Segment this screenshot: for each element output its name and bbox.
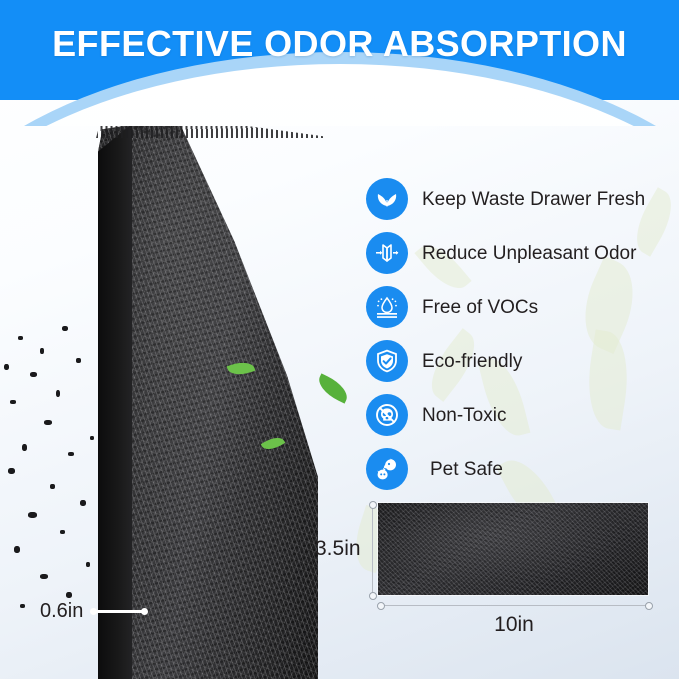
carbon-granule: [76, 358, 81, 363]
height-label: 3.5in: [315, 537, 361, 561]
carbon-granule: [90, 436, 94, 440]
filter-pad-edge: [98, 118, 132, 679]
carbon-granule: [28, 512, 37, 518]
airflow-filter-icon: [366, 232, 408, 274]
thickness-measure-line: [93, 610, 145, 613]
page-title: EFFECTIVE ODOR ABSORPTION: [0, 24, 679, 64]
carbon-granule: [56, 390, 60, 397]
carbon-granule: [50, 484, 55, 489]
carbon-granule: [60, 530, 65, 534]
filter-pad-flat-texture: [378, 503, 648, 595]
carbon-granule: [30, 372, 37, 377]
measure-endpoint: [377, 602, 385, 610]
measure-endpoint: [369, 501, 377, 509]
dog-cat-icon: [366, 448, 408, 490]
thickness-label: 0.6in: [40, 600, 83, 623]
product-infographic: EFFECTIVE ODOR ABSORPTION Keep Waste Dra…: [0, 0, 679, 679]
carbon-granule: [66, 592, 72, 598]
leaves-icon: [366, 178, 408, 220]
carbon-granule: [86, 562, 90, 567]
product-photo: [0, 100, 345, 679]
filter-pad-flat-view: [378, 503, 648, 595]
carbon-granule: [40, 574, 48, 579]
measure-endpoint: [645, 602, 653, 610]
water-droplet-icon: [366, 286, 408, 328]
feature-label: Reduce Unpleasant Odor: [422, 244, 636, 263]
carbon-granule: [8, 468, 15, 474]
feature-item-free-of-vocs: Free of VOCs: [366, 280, 676, 334]
feature-label: Pet Safe: [430, 460, 503, 479]
shield-check-icon: [366, 340, 408, 382]
carbon-granule: [68, 452, 74, 456]
carbon-granule: [62, 326, 68, 331]
carbon-granule: [40, 348, 44, 354]
height-measure-line: [372, 505, 373, 595]
carbon-granule: [4, 364, 9, 370]
carbon-granule: [44, 420, 52, 425]
carbon-granule: [80, 500, 86, 506]
feature-item-reduce-unpleasant-odor: Reduce Unpleasant Odor: [366, 226, 676, 280]
thickness-callout: 0.6in: [40, 600, 145, 623]
measure-endpoint: [369, 592, 377, 600]
carbon-granule: [18, 336, 23, 340]
width-label: 10in: [380, 613, 648, 637]
feature-item-keep-waste-drawer-fresh: Keep Waste Drawer Fresh: [366, 172, 676, 226]
no-skull-icon: [366, 394, 408, 436]
feature-item-eco-friendly: Eco-friendly: [366, 334, 676, 388]
feature-item-non-toxic: Non-Toxic: [366, 388, 676, 442]
feature-label: Free of VOCs: [422, 298, 538, 317]
header-banner: EFFECTIVE ODOR ABSORPTION: [0, 0, 679, 126]
carbon-granule: [10, 400, 16, 404]
carbon-granule: [14, 546, 20, 553]
dimension-diagram: 3.5in 10in: [310, 495, 660, 655]
feature-item-pet-safe: Pet Safe: [366, 442, 676, 496]
carbon-granule: [20, 604, 25, 608]
feature-label: Eco-friendly: [422, 352, 522, 371]
feature-label: Keep Waste Drawer Fresh: [422, 190, 645, 209]
width-measure-line: [380, 605, 648, 606]
feature-label: Non-Toxic: [422, 406, 506, 425]
feature-list: Keep Waste Drawer Fresh Reduce Unpleasan…: [366, 172, 676, 496]
carbon-granule: [22, 444, 27, 451]
